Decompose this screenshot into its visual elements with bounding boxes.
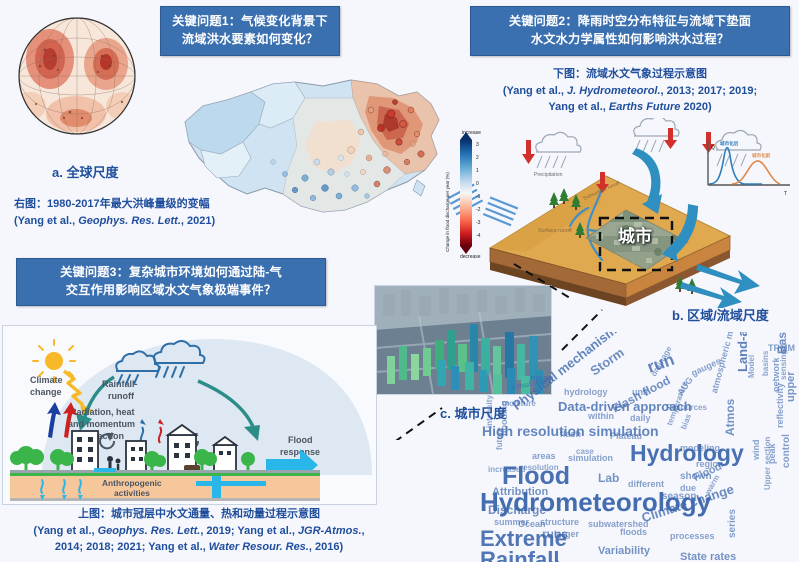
word-cloud-term: reflectivity xyxy=(776,383,785,428)
hydrograph-x-axis: T xyxy=(784,191,787,197)
global-flood-map-globe xyxy=(10,14,145,144)
poster-canvas: 关键问题1：气候变化背景下 流域洪水要素如何变化？ 关键问题2：降雨时空分布特征… xyxy=(0,0,799,562)
hydrograph-legend-before: 城市化前 xyxy=(752,152,771,159)
word-cloud-term: daily xyxy=(630,414,651,423)
key-question-1-line1: 关键问题1：气候变化背景下 xyxy=(172,13,328,31)
word-cloud-term: unit xyxy=(632,388,649,397)
canopy-cite-j2: JGR-Atmos. xyxy=(298,525,362,537)
word-cloud-term: Model xyxy=(748,355,756,378)
word-cloud-term: increased xyxy=(488,466,525,474)
word-cloud-term: control xyxy=(782,434,792,468)
q2-cite-post: , 2013; 2017; 2019; xyxy=(661,85,758,97)
canopy-cite-pre: (Yang et al., xyxy=(33,525,97,537)
word-cloud-term: season xyxy=(662,492,696,502)
word-cloud-term: region xyxy=(696,460,724,469)
urban-canopy-schematic: Climate change Rainfall- runoff xyxy=(2,325,377,500)
word-cloud-term: hydrology xyxy=(564,388,608,397)
q2-cite-pre: (Yang et al., xyxy=(503,85,567,97)
canopy-cite-mid: , 2019; Yang et al., xyxy=(200,525,298,537)
key-question-3-line2: 交互作用影响区域水文气象极端事件？ xyxy=(66,282,277,300)
word-cloud-term: State rates xyxy=(680,552,736,562)
key-question-3-box: 关键问题3：复杂城市环境如何通过陆-气 交互作用影响区域水文气象极端事件？ xyxy=(16,258,326,306)
word-cloud-term: upper xyxy=(786,371,797,402)
word-cloud-term: summer xyxy=(494,518,529,527)
word-cloud-term: moisture xyxy=(502,400,536,408)
word-cloud-term: due xyxy=(680,484,696,493)
colorbar-decrease-label: decrease xyxy=(460,254,481,258)
svg-text:-3: -3 xyxy=(476,220,481,226)
word-cloud-term: Attribution xyxy=(492,487,548,498)
word-cloud-term: Upper section xyxy=(764,437,772,490)
svg-text:2: 2 xyxy=(476,155,479,161)
word-cloud-term: within xyxy=(588,412,614,421)
key-question-1-box: 关键问题1：气候变化背景下 流域洪水要素如何变化？ xyxy=(160,6,340,56)
svg-text:-4: -4 xyxy=(476,233,481,239)
china-flood-peak-map xyxy=(155,62,465,237)
canopy-cite3-pre: 2014; 2018; 2021; Yang et al., xyxy=(55,541,209,553)
q2-figure-caption: 下图：流域水文气象过程示意图 (Yang et al., J. Hydromet… xyxy=(470,66,790,116)
q2-caption-line2: (Yang et al., J. Hydrometeorol., 2013; 2… xyxy=(470,83,790,100)
anthropogenic-label-l1: Anthropogenic xyxy=(102,478,162,488)
flood-discharge-colorbar: Change in flood discharge per year (%) 3… xyxy=(440,130,510,258)
q2-cite-journal: J. Hydrometeorol. xyxy=(567,85,661,97)
svg-text:3: 3 xyxy=(476,142,479,148)
key-question-2-box: 关键问题2：降雨时空分布特征与流域下垫面 水文水力学属性如何影响洪水过程？ xyxy=(470,6,790,56)
global-scale-label: a. 全球尺度 xyxy=(52,162,118,181)
q2-cite2-post: 2020) xyxy=(680,101,711,113)
hydrograph-y-axis: Q xyxy=(711,145,715,151)
word-cloud-term: Atmos xyxy=(724,399,736,436)
word-cloud-term: floods xyxy=(620,528,647,537)
q2-caption-line3: Yang et al., Earths Future 2020) xyxy=(470,99,790,116)
word-cloud-term: Lab xyxy=(598,472,619,484)
svg-text:-1: -1 xyxy=(476,194,481,200)
q2-caption-line1: 下图：流域水文气象过程示意图 xyxy=(470,66,790,83)
word-cloud-term: flash xyxy=(560,430,581,439)
word-cloud-term: case xyxy=(576,448,594,456)
colorbar-title: Change in flood discharge per year (%) xyxy=(445,172,450,252)
city-label-on-block: 城市 xyxy=(618,222,652,247)
key-question-3-line1: 关键问题3：复杂城市环境如何通过陆-气 xyxy=(60,264,282,282)
word-cloud-term: Plateau xyxy=(610,432,642,441)
key-question-2-line1: 关键问题2：降雨时空分布特征与流域下垫面 xyxy=(509,13,751,31)
word-cloud-term: Discharge xyxy=(488,504,546,516)
radiation-label-l1: Radiation, heat xyxy=(70,407,135,417)
word-cloud-term: intensity xyxy=(486,395,494,428)
q2-cite2-pre: Yang et al., xyxy=(548,101,609,113)
rainfall-runoff-label-l2: runoff xyxy=(108,391,135,401)
flood-response-label-l1: Flood xyxy=(288,435,313,445)
word-cloud-term: larger xyxy=(554,530,579,539)
climate-change-label-l2: change xyxy=(30,387,62,397)
regional-scale-label: b. 区域/流域尺度 xyxy=(672,305,769,324)
canopy-cite-j3: Water Resour. Res. xyxy=(209,541,309,553)
q2-cite2-journal: Earths Future xyxy=(609,101,681,113)
radiation-label-l2: and momentum xyxy=(68,419,135,429)
word-cloud-term: basins xyxy=(762,351,770,376)
precipitation-label: Precipitation xyxy=(534,172,563,178)
canopy-caption-line3: 2014; 2018; 2021; Yang et al., Water Res… xyxy=(4,539,394,556)
colorbar-increase-label: increase xyxy=(462,130,481,136)
surface-runoff-label: Surface runoff xyxy=(538,228,572,234)
anthropogenic-label-l2: activities xyxy=(114,488,150,498)
word-cloud-term: Variability xyxy=(598,546,650,557)
word-cloud-term: modeling xyxy=(680,444,720,453)
hydrograph-legend-after: 城市化后 xyxy=(720,140,739,147)
urbanization-hydrograph-inset: Q T 城市化后 城市化前 xyxy=(696,137,792,195)
word-cloud-term: resolution xyxy=(520,464,559,472)
word-cloud-term: series xyxy=(728,509,738,538)
canopy-figure-caption: 上图：城市冠层中水文通量、热和动量过程示意图 (Yang et al., Geo… xyxy=(4,506,394,556)
canopy-cite3-post: , 2016) xyxy=(309,541,343,553)
svg-text:0: 0 xyxy=(476,181,479,187)
climate-change-label-l1: Climate xyxy=(30,375,63,385)
key-question-1-line2: 流域洪水要素如何变化？ xyxy=(182,31,318,49)
word-cloud-term: bias xyxy=(680,413,693,431)
canopy-caption-line2: (Yang et al., Geophys. Res. Lett., 2019;… xyxy=(4,523,394,540)
word-cloud-term: structure xyxy=(540,518,579,527)
word-cloud-term: areas xyxy=(532,452,556,461)
canopy-caption-line1: 上图：城市冠层中水文通量、热和动量过程示意图 xyxy=(4,506,394,523)
svg-text:-2: -2 xyxy=(476,207,481,213)
canopy-cite-j1: Geophys. Res. Lett. xyxy=(98,525,201,537)
key-question-2-line2: 水文水力学属性如何影响洪水过程？ xyxy=(531,31,729,49)
research-keywords-word-cloud: HydrometeorologyHydrologyFloodExtremeRai… xyxy=(480,332,799,562)
word-cloud-term: processes xyxy=(670,532,715,541)
word-cloud-term: different xyxy=(628,480,664,489)
word-cloud-term: wind xyxy=(752,440,761,461)
svg-text:1: 1 xyxy=(476,168,479,174)
canopy-cite-post: , xyxy=(362,525,365,537)
global-cite-pre: (Yang et al., xyxy=(14,215,78,227)
